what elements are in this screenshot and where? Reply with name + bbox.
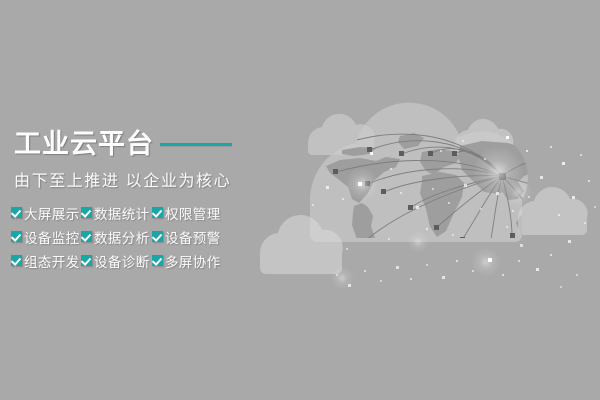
feature-label: 组态开发: [24, 251, 80, 271]
feature-label: 设备监控: [24, 227, 80, 247]
check-square-icon: [152, 207, 163, 218]
hero-text-block: 工业云平台 由下至上推进 以企业为核心 大屏展示 数据统计 权限管理: [0, 0, 250, 400]
feature-label: 权限管理: [165, 203, 221, 223]
cloud-world-network-illustration: [250, 88, 600, 313]
check-square-icon: [11, 207, 22, 218]
feature-label: 设备诊断: [94, 251, 150, 271]
feature-row: 大屏展示 数据统计 权限管理: [11, 202, 221, 223]
title-row: 工业云平台: [14, 128, 232, 160]
hero-subtitle: 由下至上推进 以企业为核心: [14, 167, 231, 191]
feature-label: 设备预警: [165, 227, 221, 247]
feature-item[interactable]: 多屏协作: [152, 251, 221, 271]
check-square-icon: [81, 207, 92, 218]
feature-label: 数据统计: [94, 203, 150, 223]
page-title: 工业云平台: [14, 128, 154, 160]
feature-item[interactable]: 设备监控: [11, 227, 81, 247]
title-accent-rule: [160, 143, 232, 146]
feature-row: 设备监控 数据分析 设备预警: [11, 226, 221, 247]
check-square-icon: [81, 255, 92, 266]
check-square-icon: [152, 231, 163, 242]
check-square-icon: [81, 231, 92, 242]
feature-item[interactable]: 组态开发: [11, 251, 81, 271]
feature-label: 多屏协作: [165, 251, 221, 271]
check-square-icon: [11, 231, 22, 242]
hero-banner: 工业云平台 由下至上推进 以企业为核心 大屏展示 数据统计 权限管理: [0, 0, 600, 400]
feature-item[interactable]: 设备预警: [152, 227, 221, 247]
feature-item[interactable]: 数据统计: [81, 203, 152, 223]
feature-label: 大屏展示: [24, 203, 80, 223]
feature-item[interactable]: 大屏展示: [11, 203, 81, 223]
feature-item[interactable]: 数据分析: [81, 227, 152, 247]
feature-item[interactable]: 设备诊断: [81, 251, 152, 271]
check-square-icon: [152, 255, 163, 266]
feature-row: 组态开发 设备诊断 多屏协作: [11, 250, 221, 271]
feature-item[interactable]: 权限管理: [152, 203, 221, 223]
feature-list: 大屏展示 数据统计 权限管理 设备监控 数据分析: [11, 202, 221, 274]
feature-label: 数据分析: [94, 227, 150, 247]
check-square-icon: [11, 255, 22, 266]
